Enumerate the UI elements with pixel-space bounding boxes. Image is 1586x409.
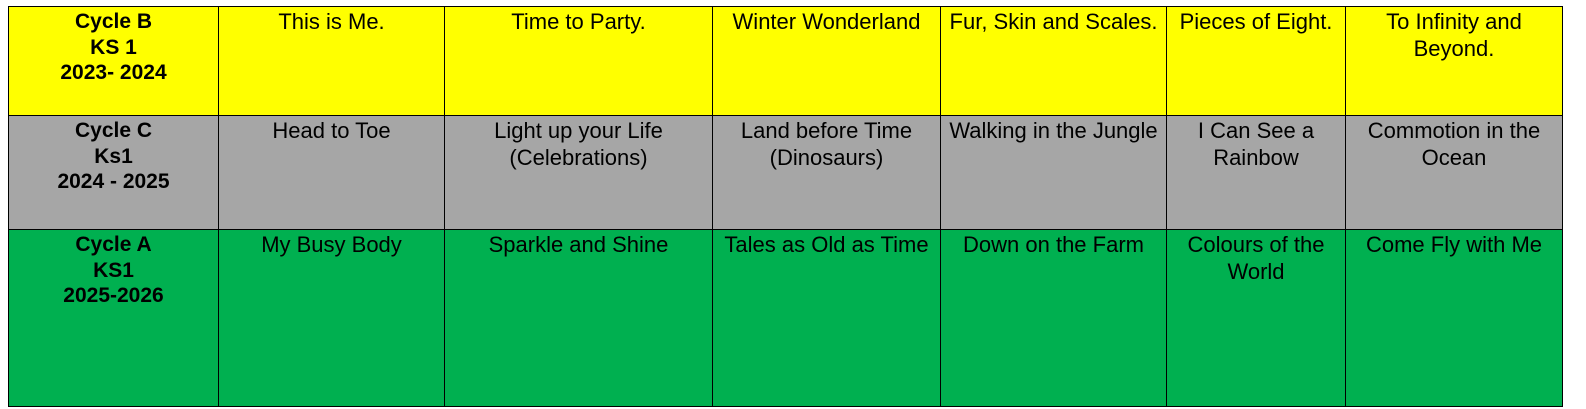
topic-cell[interactable]: Come Fly with Me bbox=[1346, 230, 1563, 407]
topic-cell[interactable]: Walking in the Jungle bbox=[941, 116, 1167, 230]
table-row: Cycle A KS1 2025-2026 My Busy Body Spark… bbox=[9, 230, 1563, 407]
table-row: Cycle C Ks1 2024 - 2025 Head to Toe Ligh… bbox=[9, 116, 1563, 230]
topic-cell[interactable]: Sparkle and Shine bbox=[445, 230, 713, 407]
cycle-label-cell[interactable]: Cycle B KS 1 2023- 2024 bbox=[9, 7, 219, 116]
topic-cell[interactable]: Commotion in the Ocean bbox=[1346, 116, 1563, 230]
cycle-years: 2023- 2024 bbox=[13, 60, 214, 86]
topic-cell[interactable]: I Can See a Rainbow bbox=[1167, 116, 1346, 230]
cycle-name: Cycle C bbox=[13, 118, 214, 144]
topic-cell[interactable]: Time to Party. bbox=[445, 7, 713, 116]
curriculum-cycles-table: Cycle B KS 1 2023- 2024 This is Me. Time… bbox=[8, 6, 1563, 407]
topic-cell[interactable]: Head to Toe bbox=[219, 116, 445, 230]
cycle-label-cell[interactable]: Cycle A KS1 2025-2026 bbox=[9, 230, 219, 407]
cycle-key-stage: KS 1 bbox=[13, 35, 214, 61]
topic-cell[interactable]: Fur, Skin and Scales. bbox=[941, 7, 1167, 116]
table-row: Cycle B KS 1 2023- 2024 This is Me. Time… bbox=[9, 7, 1563, 116]
topic-cell[interactable]: Pieces of Eight. bbox=[1167, 7, 1346, 116]
topic-cell[interactable]: To Infinity and Beyond. bbox=[1346, 7, 1563, 116]
topic-cell[interactable]: Land before Time (Dinosaurs) bbox=[713, 116, 941, 230]
topic-cell[interactable]: Light up your Life (Celebrations) bbox=[445, 116, 713, 230]
cycle-years: 2024 - 2025 bbox=[13, 169, 214, 195]
topic-cell[interactable]: Down on the Farm bbox=[941, 230, 1167, 407]
topic-cell[interactable]: Colours of the World bbox=[1167, 230, 1346, 407]
topic-cell[interactable]: Tales as Old as Time bbox=[713, 230, 941, 407]
cycle-name: Cycle A bbox=[13, 232, 214, 258]
cycle-years: 2025-2026 bbox=[13, 283, 214, 309]
cycle-key-stage: KS1 bbox=[13, 258, 214, 284]
topic-cell[interactable]: Winter Wonderland bbox=[713, 7, 941, 116]
topic-cell[interactable]: My Busy Body bbox=[219, 230, 445, 407]
cycle-label-cell[interactable]: Cycle C Ks1 2024 - 2025 bbox=[9, 116, 219, 230]
topic-cell[interactable]: This is Me. bbox=[219, 7, 445, 116]
cycle-key-stage: Ks1 bbox=[13, 144, 214, 170]
spreadsheet-canvas: Cycle B KS 1 2023- 2024 This is Me. Time… bbox=[0, 0, 1586, 409]
cycle-name: Cycle B bbox=[13, 9, 214, 35]
